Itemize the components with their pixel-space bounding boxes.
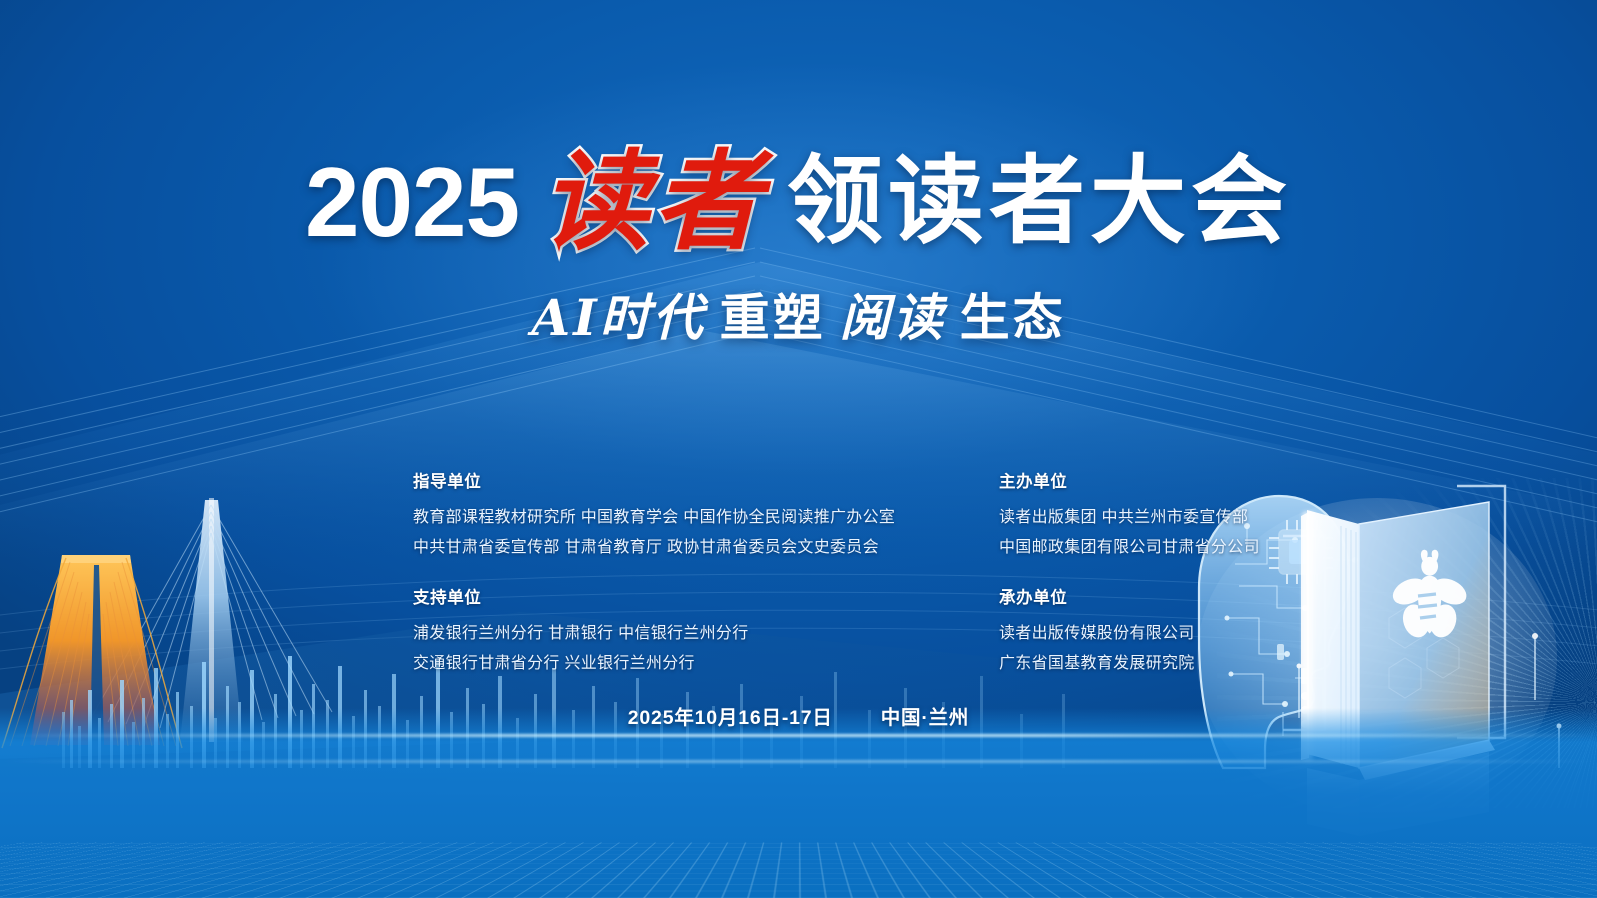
credit-line: 交通银行甘肃省分行 兴业银行兰州分行 xyxy=(413,649,903,679)
credit-group-host: 承办单位 读者出版传媒股份有限公司 广东省国基教育发展研究院 xyxy=(999,584,1329,678)
credit-line: 中国邮政集团有限公司甘肃省分公司 xyxy=(999,533,1329,563)
credit-line: 浦发银行兰州分行 甘肃银行 中信银行兰州分行 xyxy=(413,619,903,649)
credit-heading: 承办单位 xyxy=(999,584,1329,608)
title-rest: 领读者大会 xyxy=(787,154,1292,250)
title-block: 2025 读者 领读者大会 AI时代 重塑 阅读 生态 xyxy=(0,148,1597,350)
credits-column-right: 主办单位 读者出版集团 中共兰州市委宣传部 中国邮政集团有限公司甘肃省分公司 承… xyxy=(999,468,1329,700)
credits-column-left: 指导单位 教育部课程教材研究所 中国教育学会 中国作协全民阅读推广办公室 中共甘… xyxy=(413,468,903,700)
credit-line: 读者出版集团 中共兰州市委宣传部 xyxy=(999,503,1329,533)
credit-heading: 支持单位 xyxy=(413,584,903,608)
event-footer: 2025年10月16日-17日 中国·兰州 xyxy=(0,701,1597,730)
main-title: 2025 读者 领读者大会 xyxy=(0,148,1597,256)
subtitle-part-2: 重塑 xyxy=(720,278,826,350)
title-brand-calligraphy: 读者 xyxy=(529,148,777,256)
digital-ground-plane xyxy=(0,708,1597,898)
subtitle-part-1: AI时代 xyxy=(531,278,705,350)
ground-grid xyxy=(0,843,1597,898)
event-location: 中国·兰州 xyxy=(881,701,970,730)
credit-line: 读者出版传媒股份有限公司 xyxy=(999,619,1329,649)
subtitle-part-4: 生态 xyxy=(960,278,1066,350)
subtitle-part-3: 阅读 xyxy=(840,278,946,350)
credit-line: 中共甘肃省委宣传部 甘肃省教育厅 政协甘肃省委员会文史委员会 xyxy=(413,533,903,563)
ground-streak xyxy=(0,734,1597,737)
credit-group-support: 支持单位 浦发银行兰州分行 甘肃银行 中信银行兰州分行 交通银行甘肃省分行 兴业… xyxy=(413,584,903,678)
ground-streak xyxy=(0,760,1597,763)
title-year: 2025 xyxy=(305,153,519,251)
credit-heading: 指导单位 xyxy=(413,468,903,492)
subtitle: AI时代 重塑 阅读 生态 xyxy=(0,278,1597,350)
conference-poster: 2025 读者 领读者大会 AI时代 重塑 阅读 生态 指导单位 教育部课程教材… xyxy=(0,0,1597,898)
credits-section: 指导单位 教育部课程教材研究所 中国教育学会 中国作协全民阅读推广办公室 中共甘… xyxy=(413,468,1329,700)
credit-heading: 主办单位 xyxy=(999,468,1329,492)
event-date: 2025年10月16日-17日 xyxy=(628,701,833,730)
credit-group-organizer: 主办单位 读者出版集团 中共兰州市委宣传部 中国邮政集团有限公司甘肃省分公司 xyxy=(999,468,1329,562)
credit-group-guidance: 指导单位 教育部课程教材研究所 中国教育学会 中国作协全民阅读推广办公室 中共甘… xyxy=(413,468,903,562)
credit-line: 广东省国基教育发展研究院 xyxy=(999,649,1329,679)
credit-line: 教育部课程教材研究所 中国教育学会 中国作协全民阅读推广办公室 xyxy=(413,503,903,533)
